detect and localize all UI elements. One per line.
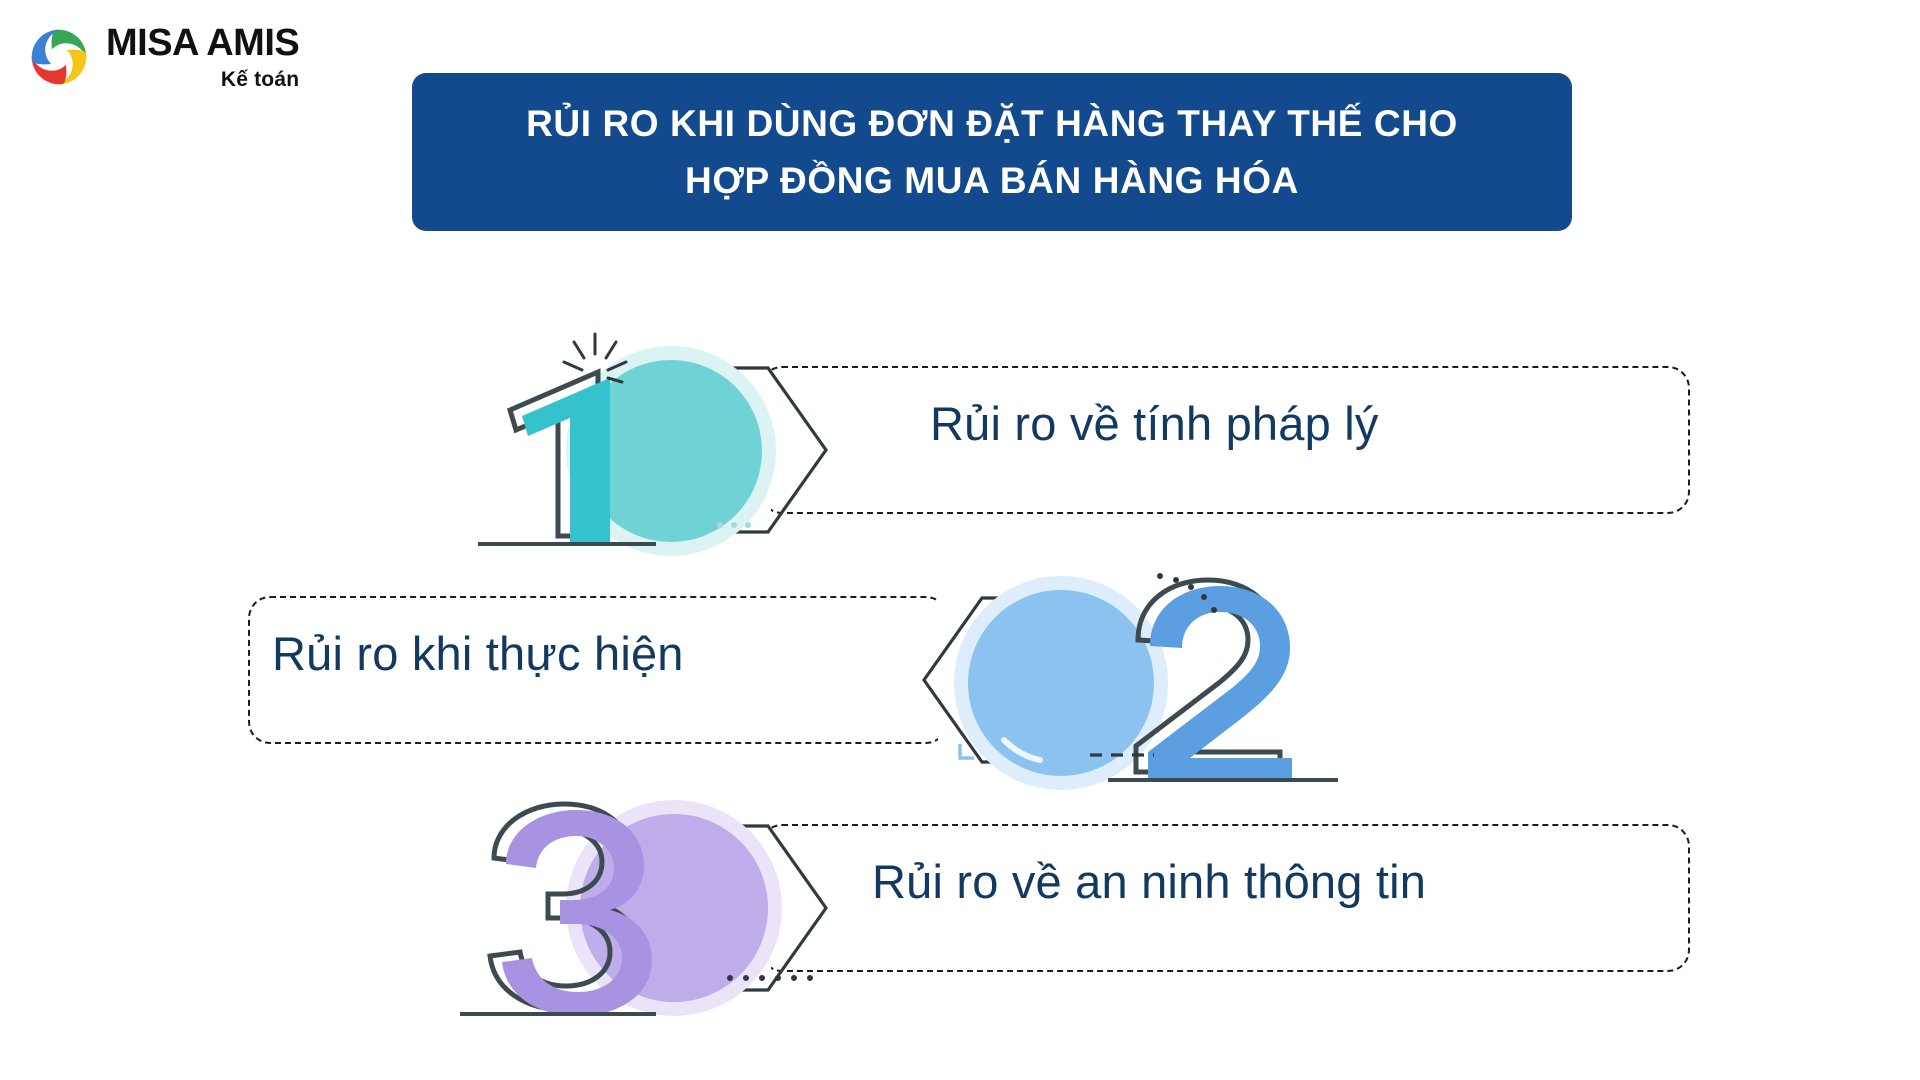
- row-3-label: Rủi ro về an ninh thông tin: [872, 854, 1426, 909]
- title-line-2: HỢP ĐỒNG MUA BÁN HÀNG HÓA: [685, 152, 1299, 209]
- infographic-row-2: Rủi ro khi thực hiện: [0, 580, 1920, 780]
- row-1-circle: [580, 360, 762, 542]
- row-2-notch-mask: [938, 594, 954, 746]
- row-2-circle: [968, 590, 1154, 776]
- brand-logo: MISA AMIS Kế toán: [28, 24, 299, 90]
- misa-pinwheel-logo-icon: [28, 26, 90, 88]
- logo-wordmark: MISA AMIS: [106, 24, 299, 62]
- row-1-label: Rủi ro về tính pháp lý: [930, 396, 1379, 451]
- row-2-dot-arc-icon: [1150, 562, 1270, 672]
- title-line-1: RỦI RO KHI DÙNG ĐƠN ĐẶT HÀNG THAY THẾ CH…: [526, 95, 1458, 152]
- row-2-label: Rủi ro khi thực hiện: [272, 626, 684, 681]
- title-banner: RỦI RO KHI DÙNG ĐƠN ĐẶT HÀNG THAY THẾ CH…: [412, 73, 1572, 231]
- infographic-row-3: Rủi ro về an ninh thông tin: [0, 808, 1920, 1008]
- infographic-row-1: Rủi ro về tính pháp lý: [0, 350, 1920, 550]
- logo-sub-wordmark: Kế toán: [221, 69, 299, 90]
- row-3-circle: [580, 814, 768, 1002]
